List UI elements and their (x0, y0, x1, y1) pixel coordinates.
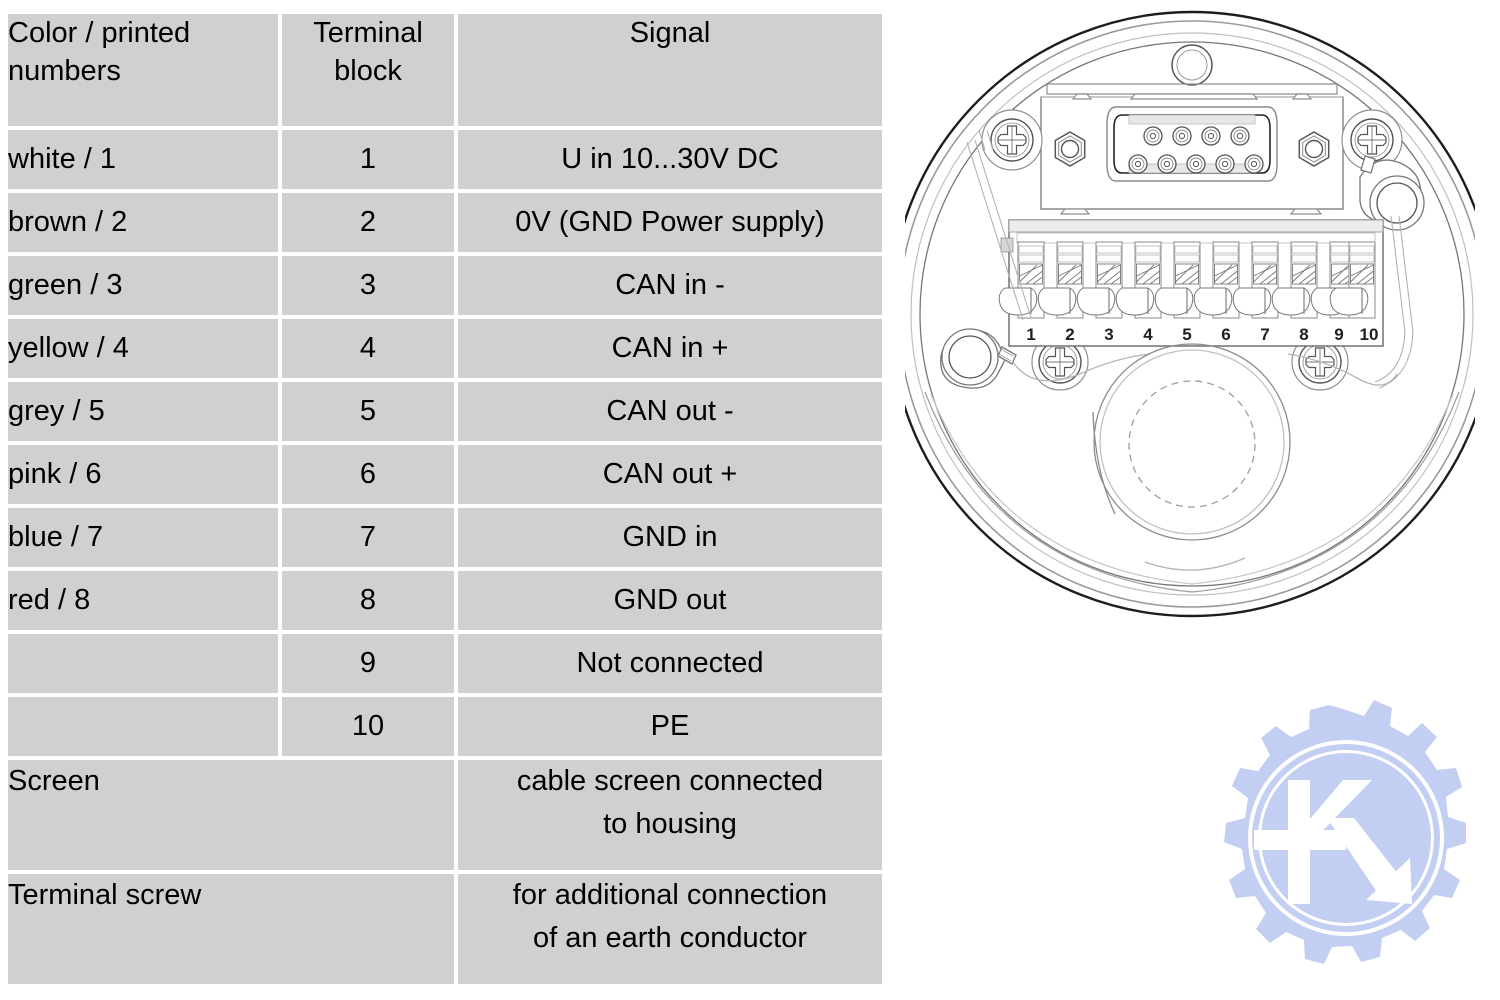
cell-signal: U in 10...30V DC (458, 130, 882, 189)
cell-terminal: 3 (282, 256, 454, 315)
terminal-label-6: 6 (1221, 325, 1230, 344)
cell-color (8, 697, 278, 756)
column-header-terminal-block: Terminal block (282, 14, 454, 126)
table-row: brown / 2 2 0V (GND Power supply) (8, 193, 882, 252)
connector-hex-nut-right (1299, 132, 1328, 166)
cell-signal: Not connected (458, 634, 882, 693)
cell-terminal-screw-signal: for additional connection of an earth co… (458, 874, 882, 984)
cell-color: grey / 5 (8, 382, 278, 441)
table-row: 10 PE (8, 697, 882, 756)
table-row-screen: Screen cable screen connected to housing (8, 760, 882, 870)
cell-color: yellow / 4 (8, 319, 278, 378)
cell-terminal-screw-label: Terminal screw (8, 874, 454, 984)
cell-signal: CAN out + (458, 445, 882, 504)
cell-terminal: 10 (282, 697, 454, 756)
device-rear-view-drawing: 1 2 3 4 5 6 7 8 9 10 (905, 2, 1475, 632)
cell-screen-signal: cable screen connected to housing (458, 760, 882, 870)
table-row: 9 Not connected (8, 634, 882, 693)
terminal-label-9: 9 (1334, 325, 1343, 344)
cell-terminal-screw-signal-line1: for additional connection (513, 879, 827, 911)
column-header-terminal-line2: block (334, 55, 402, 87)
cell-signal: CAN in + (458, 319, 882, 378)
table-header-row: Color / printed numbers Terminal block S… (8, 14, 882, 126)
connector-hex-nut-left (1055, 132, 1084, 166)
cell-terminal: 7 (282, 508, 454, 567)
column-header-signal: Signal (458, 14, 882, 126)
cell-signal: 0V (GND Power supply) (458, 193, 882, 252)
terminal-label-3: 3 (1104, 325, 1113, 344)
terminal-block: 1 2 3 4 5 6 7 8 9 10 (999, 220, 1383, 346)
cell-screen-signal-line2: to housing (603, 808, 737, 840)
cell-signal: GND out (458, 571, 882, 630)
cell-color: brown / 2 (8, 193, 278, 252)
cell-signal: GND in (458, 508, 882, 567)
cell-color: pink / 6 (8, 445, 278, 504)
column-header-terminal-line1: Terminal (313, 17, 423, 49)
dsub-9-connector (1107, 107, 1277, 181)
cell-color: white / 1 (8, 130, 278, 189)
gear-k-logo-watermark (1196, 692, 1496, 992)
cell-terminal-screw-signal-line2: of an earth conductor (533, 922, 807, 954)
cell-signal: CAN out - (458, 382, 882, 441)
table-row: blue / 7 7 GND in (8, 508, 882, 567)
cell-screen-label: Screen (8, 760, 454, 870)
cell-color: green / 3 (8, 256, 278, 315)
cell-terminal: 5 (282, 382, 454, 441)
top-vent-hole (1172, 45, 1212, 85)
column-header-color-line1: Color / printed (8, 17, 190, 49)
cell-terminal: 9 (282, 634, 454, 693)
table-row: pink / 6 6 CAN out + (8, 445, 882, 504)
column-header-color-line2: numbers (8, 55, 121, 87)
cell-color: blue / 7 (8, 508, 278, 567)
terminal-label-1: 1 (1026, 325, 1035, 344)
k-arrow-icon (1254, 780, 1412, 904)
gear-icon (1224, 700, 1466, 964)
terminal-label-10: 10 (1360, 325, 1379, 344)
terminal-label-8: 8 (1299, 325, 1308, 344)
cell-terminal: 6 (282, 445, 454, 504)
table-row: red / 8 8 GND out (8, 571, 882, 630)
cell-terminal: 2 (282, 193, 454, 252)
cell-signal: CAN in - (458, 256, 882, 315)
terminal-assignment-table: Color / printed numbers Terminal block S… (4, 10, 886, 988)
cell-terminal: 8 (282, 571, 454, 630)
terminal-label-2: 2 (1065, 325, 1074, 344)
column-header-color: Color / printed numbers (8, 14, 278, 126)
cell-screen-signal-line1: cable screen connected (517, 765, 823, 797)
table-row: grey / 5 5 CAN out - (8, 382, 882, 441)
table-row-terminal-screw: Terminal screw for additional connection… (8, 874, 882, 984)
cell-terminal: 1 (282, 130, 454, 189)
cell-color (8, 634, 278, 693)
terminal-label-7: 7 (1260, 325, 1269, 344)
cell-color: red / 8 (8, 571, 278, 630)
cell-signal: PE (458, 697, 882, 756)
table-row: green / 3 3 CAN in - (8, 256, 882, 315)
table-row: yellow / 4 4 CAN in + (8, 319, 882, 378)
cell-terminal: 4 (282, 319, 454, 378)
terminal-label-4: 4 (1143, 325, 1153, 344)
table-row: white / 1 1 U in 10...30V DC (8, 130, 882, 189)
terminal-label-5: 5 (1182, 325, 1191, 344)
housing-screw-top-left (982, 110, 1042, 170)
